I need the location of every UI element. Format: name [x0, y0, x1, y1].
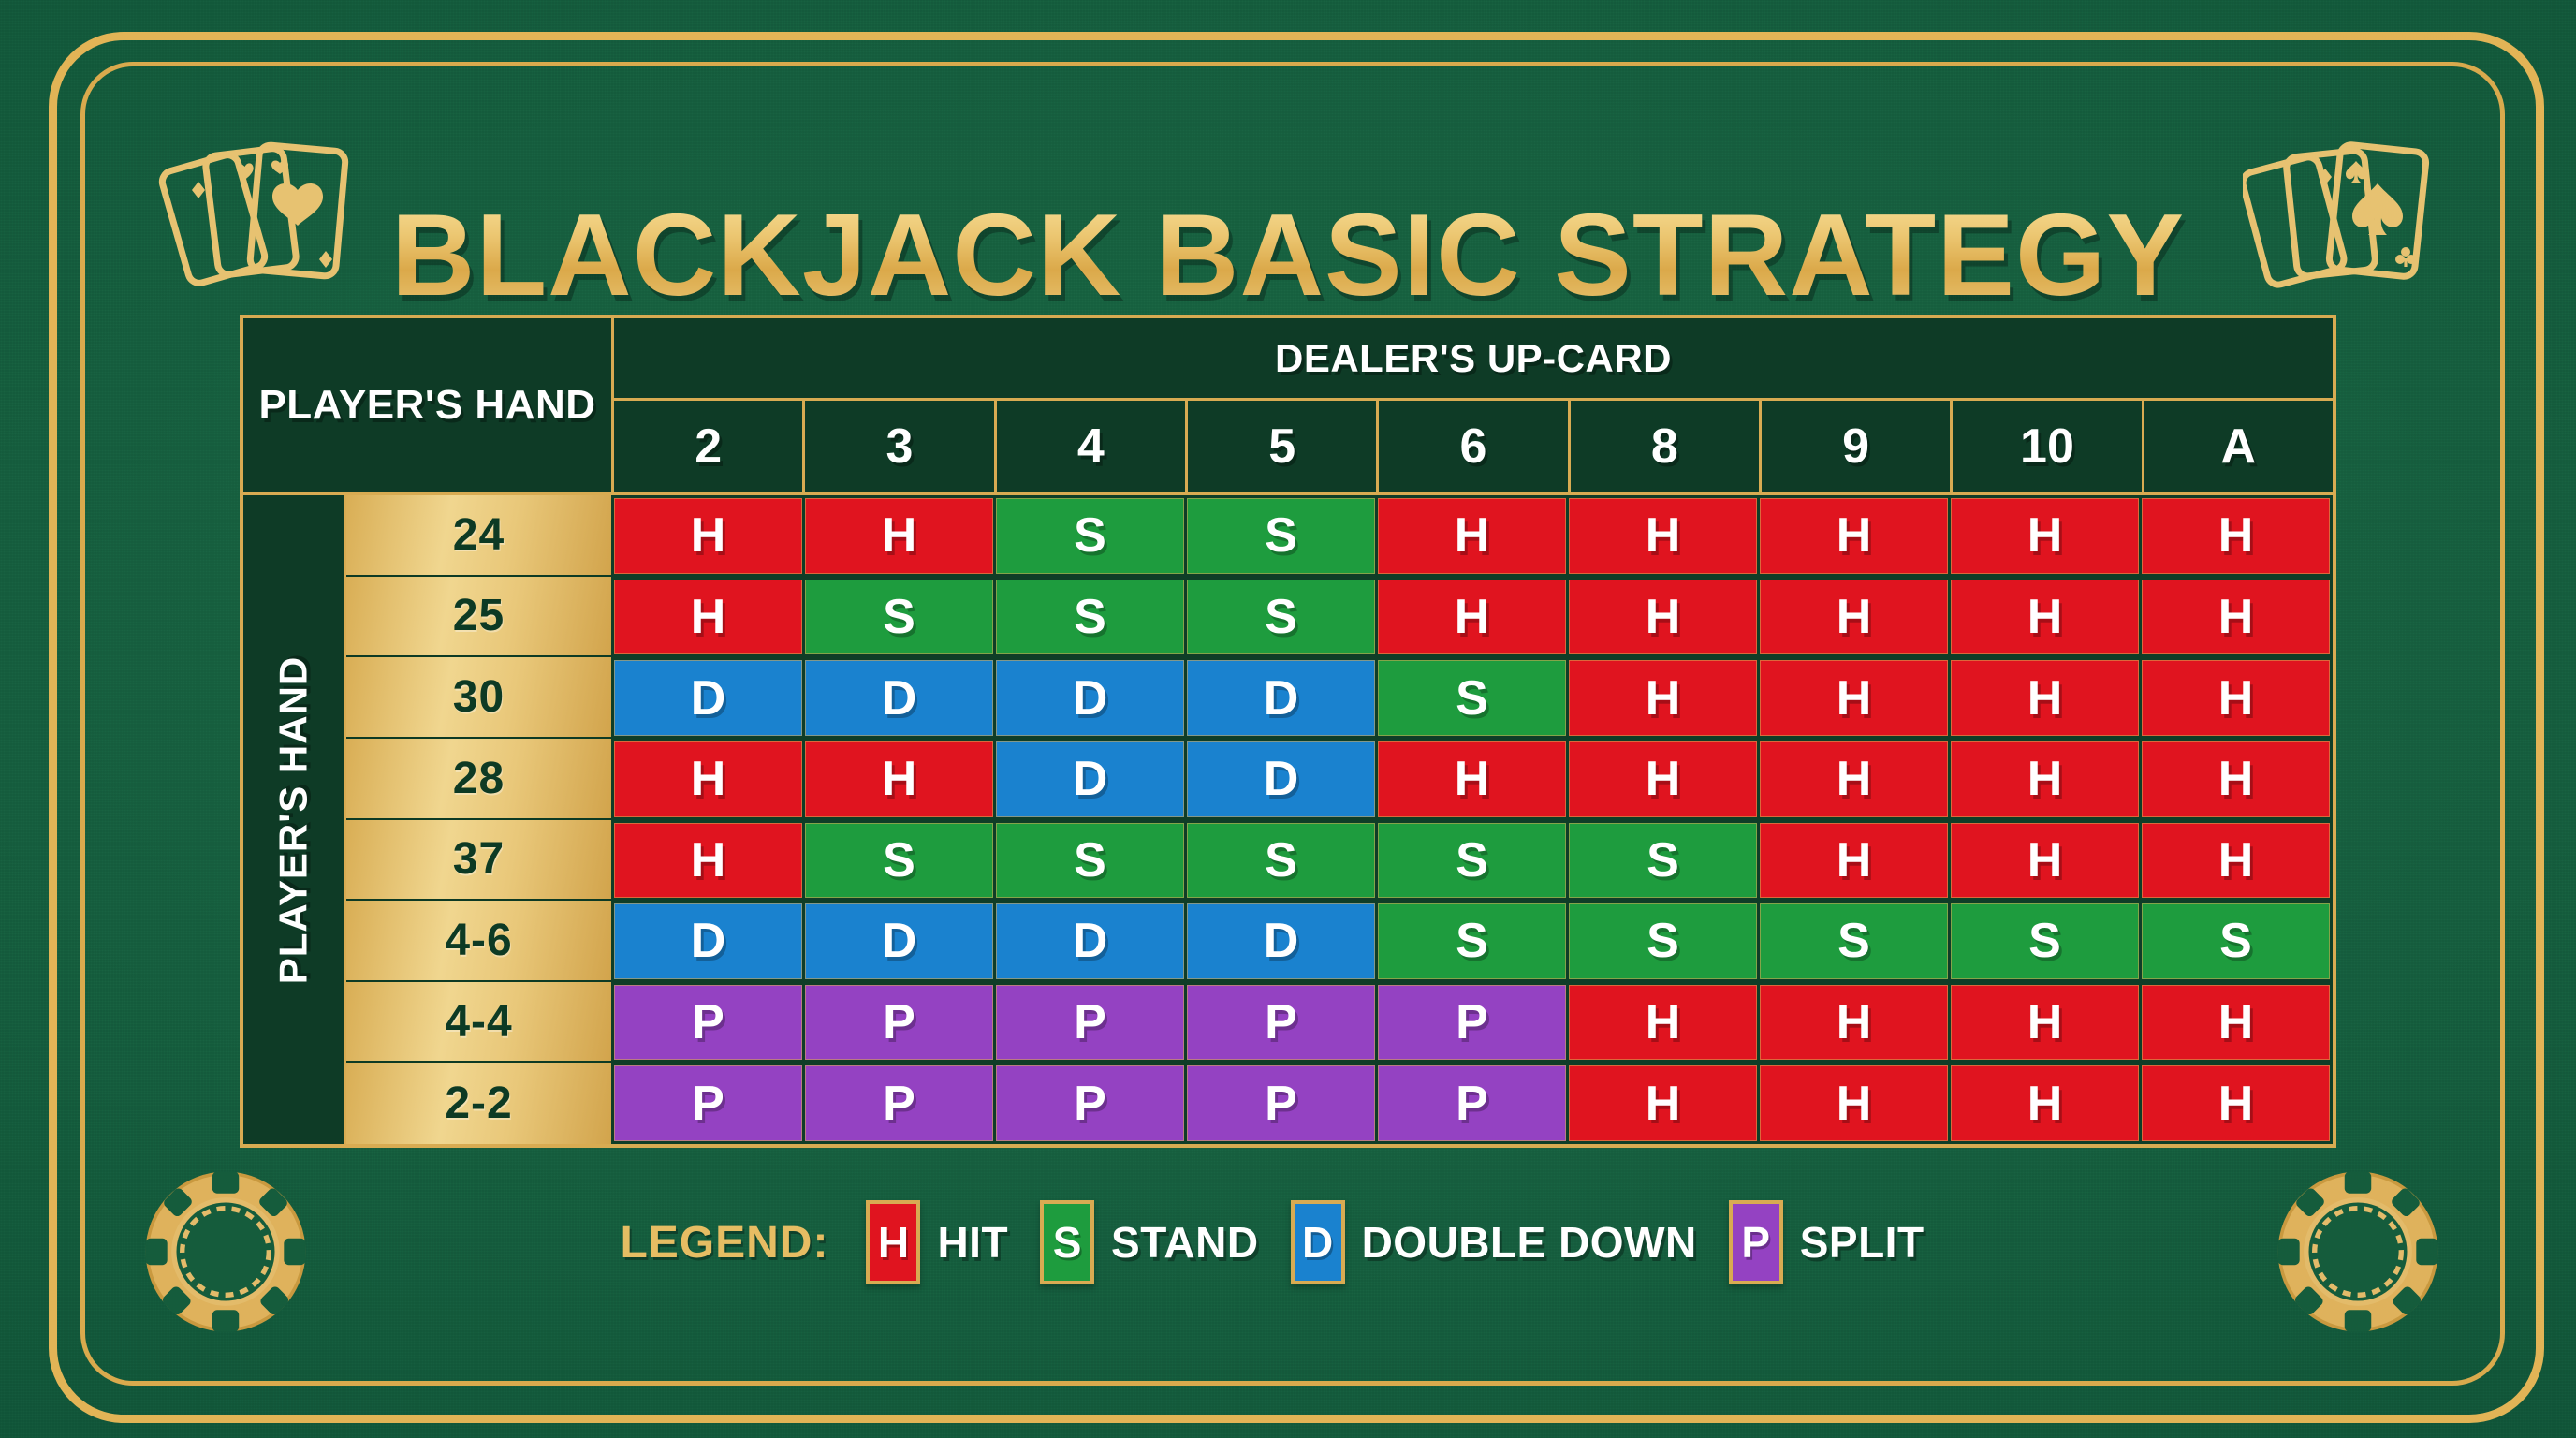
strategy-cell: P	[1187, 985, 1375, 1061]
strategy-cell: S	[1187, 498, 1375, 574]
strategy-cell: S	[2142, 903, 2330, 979]
strategy-cell: P	[996, 985, 1184, 1061]
strategy-cell: D	[1187, 741, 1375, 817]
dealer-column-header: 2	[614, 401, 805, 492]
strategy-cell: S	[1569, 903, 1757, 979]
strategy-cell: P	[1378, 985, 1566, 1061]
legend-swatch: P	[1729, 1200, 1783, 1284]
strategy-cell: H	[1951, 1065, 2139, 1141]
table-body: PLAYER'S HAND 24HHSSHHHHH25HSSSHHHHH30DD…	[243, 492, 2333, 1144]
table-row: 4-6DDDDSSSSS	[346, 901, 2333, 982]
table-row: 25HSSSHHHHH	[346, 577, 2333, 658]
strategy-cell: P	[996, 1065, 1184, 1141]
strategy-cell: H	[1760, 741, 1948, 817]
strategy-cell: H	[1569, 985, 1757, 1061]
table-row: 24HHSSHHHHH	[346, 495, 2333, 577]
row-cells: PPPPPHHHH	[611, 982, 2333, 1064]
player-hand-label: 4-4	[346, 982, 611, 1064]
strategy-cell: H	[1569, 498, 1757, 574]
dealer-column-header: 10	[1953, 401, 2144, 492]
strategy-cell: S	[1951, 903, 2139, 979]
player-hand-label: 24	[346, 495, 611, 577]
player-hand-label: 4-6	[346, 901, 611, 982]
player-hand-label: 37	[346, 820, 611, 902]
strategy-cell: H	[1760, 1065, 1948, 1141]
dealer-column-header: 8	[1571, 401, 1762, 492]
row-cells: HHSSHHHHH	[611, 495, 2333, 577]
strategy-cell: H	[1951, 660, 2139, 736]
dealer-column-header: 6	[1379, 401, 1570, 492]
strategy-cell: H	[1569, 1065, 1757, 1141]
strategy-cell: D	[1187, 903, 1375, 979]
legend: LEGEND: HHITSSTANDDDOUBLE DOWNPSPLIT	[0, 1200, 2576, 1284]
legend-item: SSTAND	[1040, 1200, 1259, 1284]
strategy-cell: P	[1187, 1065, 1375, 1141]
strategy-cell: H	[614, 580, 802, 655]
legend-swatch: H	[866, 1200, 920, 1284]
strategy-cell: H	[1760, 498, 1948, 574]
strategy-cell: H	[1378, 580, 1566, 655]
strategy-cell: H	[1378, 498, 1566, 574]
strategy-cell: H	[1951, 741, 2139, 817]
strategy-cell: H	[614, 741, 802, 817]
player-hand-label: 25	[346, 577, 611, 658]
strategy-cell: H	[2142, 660, 2330, 736]
strategy-cell: P	[1378, 1065, 1566, 1141]
row-cells: PPPPPHHHH	[611, 1063, 2333, 1144]
player-hand-label: 30	[346, 657, 611, 739]
strategy-cell: S	[1187, 580, 1375, 655]
strategy-cell: D	[805, 903, 993, 979]
legend-item: HHIT	[866, 1200, 1008, 1284]
strategy-cell: H	[1760, 823, 1948, 899]
strategy-cell: P	[805, 1065, 993, 1141]
legend-swatch: S	[1040, 1200, 1094, 1284]
strategy-cell: H	[1378, 741, 1566, 817]
strategy-cell: S	[805, 580, 993, 655]
player-hand-label: 2-2	[346, 1063, 611, 1144]
strategy-cell: D	[996, 741, 1184, 817]
strategy-cell: D	[614, 903, 802, 979]
table-row: 30DDDDSHHHH	[346, 657, 2333, 739]
dealer-column-headers: 234568910A	[614, 401, 2333, 492]
player-hand-side-header: PLAYER'S HAND	[243, 495, 346, 1144]
strategy-rows: 24HHSSHHHHH25HSSSHHHHH30DDDDSHHHH28HHDDH…	[346, 495, 2333, 1144]
table-header: PLAYER'S HAND DEALER'S UP-CARD 234568910…	[243, 318, 2333, 492]
player-hand-side-label: PLAYER'S HAND	[271, 655, 316, 984]
strategy-cell: S	[996, 580, 1184, 655]
strategy-cell: H	[2142, 985, 2330, 1061]
strategy-cell: D	[1187, 660, 1375, 736]
dealer-upcard-header: DEALER'S UP-CARD	[614, 318, 2333, 401]
strategy-cell: P	[805, 985, 993, 1061]
strategy-cell: H	[1760, 580, 1948, 655]
legend-swatch: D	[1291, 1200, 1345, 1284]
strategy-cell: H	[1951, 498, 2139, 574]
strategy-cell: P	[614, 985, 802, 1061]
row-cells: DDDDSHHHH	[611, 657, 2333, 739]
legend-item: PSPLIT	[1729, 1200, 1925, 1284]
table-row: 28HHDDHHHHH	[346, 739, 2333, 820]
strategy-cell: S	[1378, 823, 1566, 899]
page-title: BLACKJACK BASIC STRATEGY	[0, 198, 2576, 314]
dealer-column-header: A	[2144, 401, 2333, 492]
strategy-cell: H	[805, 741, 993, 817]
row-cells: HSSSSSHHH	[611, 820, 2333, 902]
strategy-cell: H	[2142, 823, 2330, 899]
strategy-cell: D	[996, 660, 1184, 736]
strategy-cell: D	[805, 660, 993, 736]
player-hand-label: 28	[346, 739, 611, 820]
strategy-cell: H	[2142, 1065, 2330, 1141]
strategy-cell: S	[1378, 660, 1566, 736]
player-hand-header: PLAYER'S HAND	[243, 318, 614, 492]
strategy-cell: H	[1569, 660, 1757, 736]
strategy-cell: S	[1760, 903, 1948, 979]
dealer-column-header: 5	[1188, 401, 1379, 492]
dealer-header-group: DEALER'S UP-CARD 234568910A	[614, 318, 2333, 492]
strategy-cell: H	[614, 823, 802, 899]
strategy-cell: S	[996, 498, 1184, 574]
row-cells: HSSSHHHHH	[611, 577, 2333, 658]
strategy-cell: H	[1951, 985, 2139, 1061]
strategy-cell: P	[614, 1065, 802, 1141]
strategy-cell: S	[1378, 903, 1566, 979]
legend-item: DDOUBLE DOWN	[1291, 1200, 1697, 1284]
strategy-cell: S	[1187, 823, 1375, 899]
strategy-cell: H	[1760, 660, 1948, 736]
table-row: 2-2PPPPPHHHH	[346, 1063, 2333, 1144]
strategy-cell: S	[996, 823, 1184, 899]
strategy-cell: H	[1951, 580, 2139, 655]
strategy-cell: H	[2142, 741, 2330, 817]
strategy-cell: D	[614, 660, 802, 736]
legend-text: DOUBLE DOWN	[1362, 1217, 1697, 1268]
legend-text: SPLIT	[1800, 1217, 1925, 1268]
strategy-cell: S	[805, 823, 993, 899]
strategy-cell: H	[614, 498, 802, 574]
strategy-cell: H	[1951, 823, 2139, 899]
dealer-column-header: 4	[997, 401, 1188, 492]
strategy-cell: H	[2142, 498, 2330, 574]
legend-label: LEGEND:	[620, 1217, 828, 1269]
strategy-cell: H	[2142, 580, 2330, 655]
table-row: 37HSSSSSHHH	[346, 820, 2333, 902]
strategy-table: PLAYER'S HAND DEALER'S UP-CARD 234568910…	[240, 315, 2336, 1148]
strategy-cell: H	[805, 498, 993, 574]
strategy-cell: H	[1760, 985, 1948, 1061]
dealer-column-header: 3	[805, 401, 996, 492]
blackjack-strategy-poster: BLACKJACK BASIC STRATEGY PLAYER'S HAND D…	[0, 0, 2576, 1438]
strategy-cell: D	[996, 903, 1184, 979]
legend-text: STAND	[1111, 1217, 1259, 1268]
table-row: 4-4PPPPPHHHH	[346, 982, 2333, 1064]
dealer-column-header: 9	[1762, 401, 1953, 492]
legend-items: HHITSSTANDDDOUBLE DOWNPSPLIT	[866, 1200, 1955, 1284]
legend-text: HIT	[937, 1217, 1008, 1268]
strategy-cell: H	[1569, 580, 1757, 655]
strategy-cell: S	[1569, 823, 1757, 899]
strategy-cell: H	[1569, 741, 1757, 817]
row-cells: DDDDSSSSS	[611, 901, 2333, 982]
row-cells: HHDDHHHHH	[611, 739, 2333, 820]
